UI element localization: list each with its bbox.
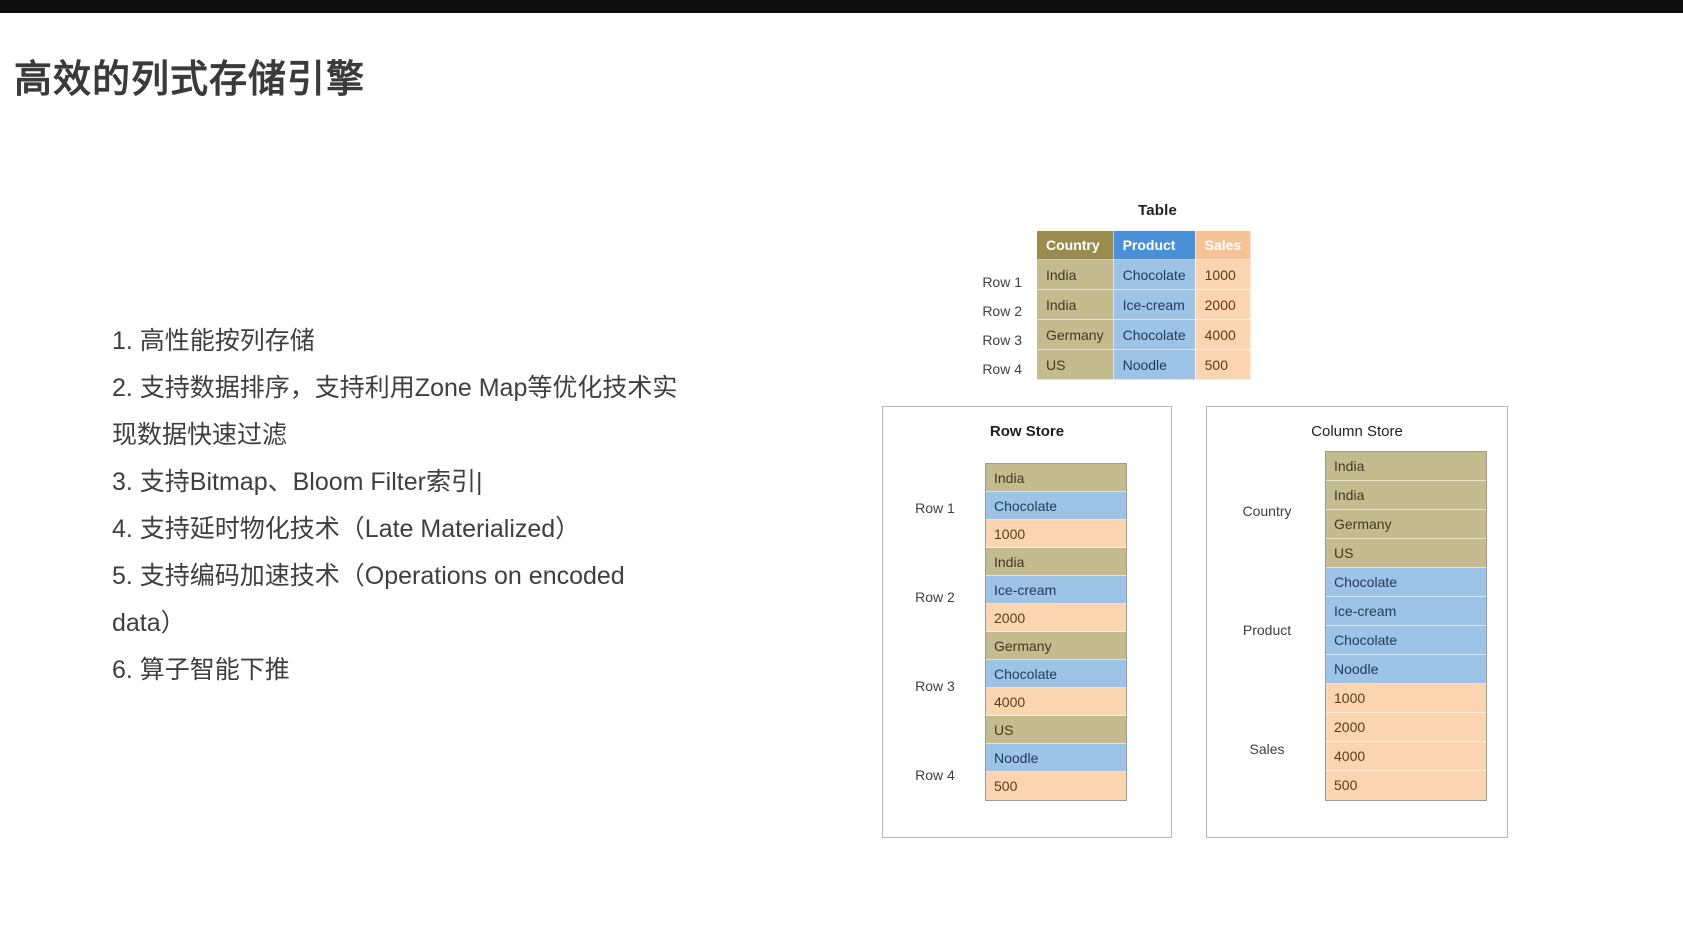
table-cell: Chocolate <box>1113 260 1195 290</box>
column-store-cell: 2000 <box>1326 713 1486 742</box>
row-store-title: Row Store <box>883 423 1171 440</box>
row-store-row-label: Row 1 <box>889 463 981 552</box>
row-store-cell: Noodle <box>986 744 1126 772</box>
list-item: 6. 算子智能下推 <box>112 647 802 694</box>
sample-table: Country Product Sales India Chocolate 10… <box>1036 230 1251 380</box>
table-cell: Ice-cream <box>1113 290 1195 320</box>
table-cell: 1000 <box>1195 260 1251 290</box>
column-store-cell: US <box>1326 539 1486 568</box>
table-header-row: Country Product Sales <box>1037 231 1251 260</box>
row-store-cell: Germany <box>986 632 1126 660</box>
column-store-cell: Germany <box>1326 510 1486 539</box>
row-store-cell: India <box>986 548 1126 576</box>
table-cell: 4000 <box>1195 320 1251 350</box>
top-black-bar <box>0 0 1683 13</box>
row-store-row-label: Row 4 <box>889 730 981 819</box>
row-store-cell: 500 <box>986 772 1126 800</box>
storage-diagram: Table Row 1 Row 2 Row 3 Row 4 Country Pr… <box>868 190 1668 850</box>
table-row-label: Row 4 <box>952 355 1022 384</box>
column-header-country: Country <box>1037 231 1114 260</box>
table-cell: 2000 <box>1195 290 1251 320</box>
table-cell: India <box>1037 290 1114 320</box>
row-store-cell: 1000 <box>986 520 1126 548</box>
row-store-cell: US <box>986 716 1126 744</box>
row-store-cell: 2000 <box>986 604 1126 632</box>
row-store-cells: India Chocolate 1000 India Ice-cream 200… <box>985 463 1127 801</box>
row-store-panel: Row Store Row 1 Row 2 Row 3 Row 4 India … <box>882 406 1172 838</box>
table-caption: Table <box>1138 202 1177 219</box>
column-store-cell: Chocolate <box>1326 626 1486 655</box>
list-item: 4. 支持延时物化技术（Late Materialized） <box>112 506 802 553</box>
table-row-label: Row 2 <box>952 297 1022 326</box>
column-store-cell: 1000 <box>1326 684 1486 713</box>
column-store-column-label: Product <box>1213 570 1321 689</box>
table-cell: India <box>1037 260 1114 290</box>
table-row-label: Row 1 <box>952 268 1022 297</box>
table-cell: 500 <box>1195 350 1251 380</box>
table-cell: US <box>1037 350 1114 380</box>
table-row-label: Row 3 <box>952 326 1022 355</box>
column-store-column-labels: Country Product Sales <box>1213 451 1321 808</box>
column-store-cell: 4000 <box>1326 742 1486 771</box>
column-store-cell: Ice-cream <box>1326 597 1486 626</box>
column-store-cell: India <box>1326 481 1486 510</box>
feature-list: 1. 高性能按列存储 2. 支持数据排序，支持利用Zone Map等优化技术实 … <box>112 318 802 694</box>
column-store-cells: India India Germany US Chocolate Ice-cre… <box>1325 451 1487 801</box>
row-store-cell: Chocolate <box>986 660 1126 688</box>
column-store-panel: Column Store Country Product Sales India… <box>1206 406 1508 838</box>
column-store-column-label: Sales <box>1213 689 1321 808</box>
table-row: Germany Chocolate 4000 <box>1037 320 1251 350</box>
list-item: 3. 支持Bitmap、Bloom Filter索引| <box>112 459 802 506</box>
list-item: 1. 高性能按列存储 <box>112 318 802 365</box>
table-row: India Ice-cream 2000 <box>1037 290 1251 320</box>
row-store-row-label: Row 2 <box>889 552 981 641</box>
row-store-cell: 4000 <box>986 688 1126 716</box>
list-item: 5. 支持编码加速技术（Operations on encoded <box>112 553 802 600</box>
column-store-column-label: Country <box>1213 451 1321 570</box>
row-store-row-label: Row 3 <box>889 641 981 730</box>
column-store-cell: Chocolate <box>1326 568 1486 597</box>
list-item: 2. 支持数据排序，支持利用Zone Map等优化技术实 <box>112 365 802 412</box>
table-row: US Noodle 500 <box>1037 350 1251 380</box>
column-store-cell: 500 <box>1326 771 1486 800</box>
column-store-cell: India <box>1326 452 1486 481</box>
row-store-cell: Chocolate <box>986 492 1126 520</box>
table-row-labels: Row 1 Row 2 Row 3 Row 4 <box>952 268 1022 384</box>
column-store-cell: Noodle <box>1326 655 1486 684</box>
row-store-cell: India <box>986 464 1126 492</box>
row-store-row-labels: Row 1 Row 2 Row 3 Row 4 <box>889 463 981 819</box>
list-item: data） <box>112 600 802 647</box>
list-item: 现数据快速过滤 <box>112 412 802 459</box>
table-row: India Chocolate 1000 <box>1037 260 1251 290</box>
column-header-sales: Sales <box>1195 231 1251 260</box>
table-cell: Noodle <box>1113 350 1195 380</box>
row-store-cell: Ice-cream <box>986 576 1126 604</box>
table-cell: Germany <box>1037 320 1114 350</box>
slide-canvas: 高效的列式存储引擎 1. 高性能按列存储 2. 支持数据排序，支持利用Zone … <box>0 0 1683 932</box>
table-cell: Chocolate <box>1113 320 1195 350</box>
column-header-product: Product <box>1113 231 1195 260</box>
page-title: 高效的列式存储引擎 <box>14 48 365 103</box>
column-store-title: Column Store <box>1207 423 1507 440</box>
